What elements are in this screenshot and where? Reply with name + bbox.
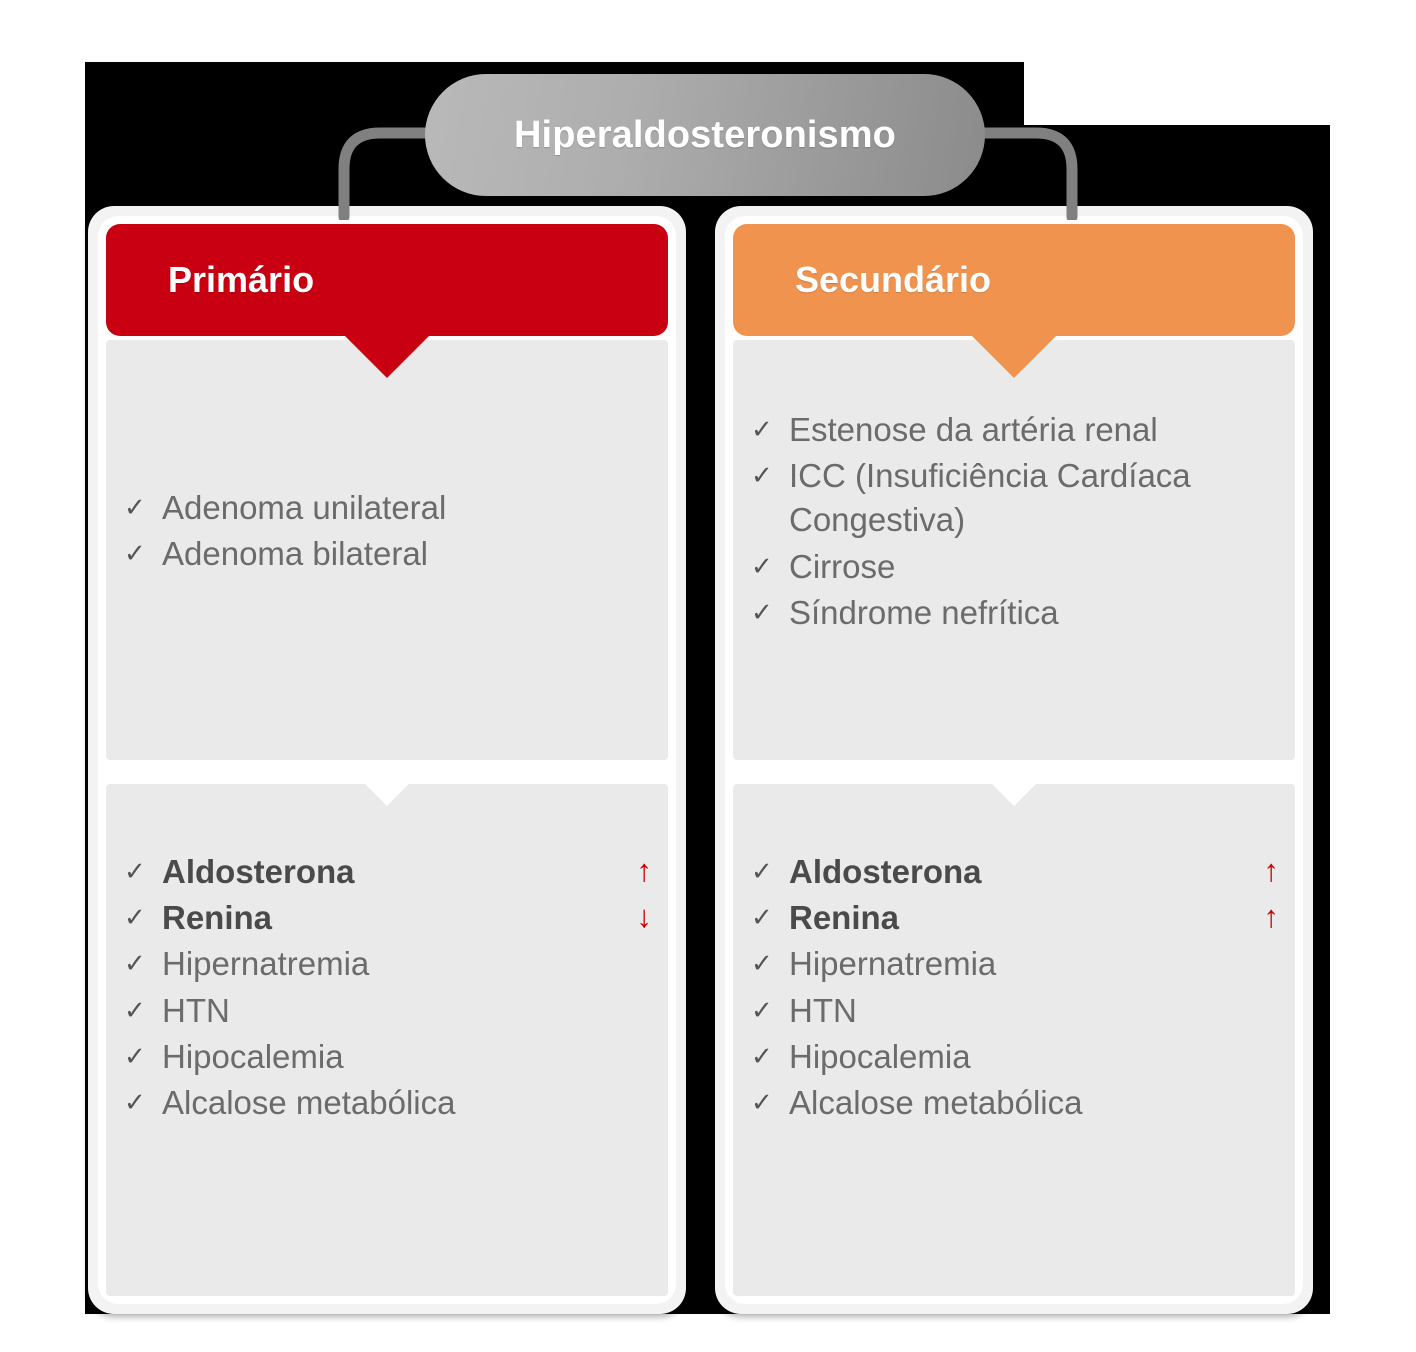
arrow-down-icon: ↓ <box>631 896 653 938</box>
check-icon: ✓ <box>124 942 158 984</box>
list-item: ✓ Alcalose metabólica <box>124 1081 652 1125</box>
check-icon: ✓ <box>751 408 785 450</box>
list-item-label: HTN <box>162 989 652 1033</box>
check-icon: ✓ <box>751 942 785 984</box>
list-item: ✓ Adenoma bilateral <box>124 532 652 576</box>
list-item: ✓ Cirrose <box>751 545 1283 589</box>
column-secundario: Secundário ✓ Estenose da artéria renal ✓… <box>715 206 1313 1314</box>
header-label-secundario: Secundário <box>733 259 991 301</box>
list-item: ✓ Estenose da artéria renal <box>751 408 1283 452</box>
header-banner-primario: Primário <box>106 224 668 336</box>
check-icon: ✓ <box>124 486 158 528</box>
check-icon: ✓ <box>751 545 785 587</box>
check-icon: ✓ <box>751 1081 785 1123</box>
list-item-label: Alcalose metabólica <box>162 1081 652 1125</box>
list-item: ✓ Alcalose metabólica <box>751 1081 1279 1125</box>
findings-list-secundario: ✓ Aldosterona ↑ ✓ Renina ↑ ✓ Hipernatrem… <box>751 850 1279 1127</box>
list-item-label: Hipernatremia <box>162 942 652 986</box>
list-item-label: Hipocalemia <box>789 1035 1279 1079</box>
list-item: ✓ Hipocalemia <box>124 1035 652 1079</box>
list-item-label: Estenose da artéria renal <box>789 408 1283 452</box>
check-icon: ✓ <box>751 989 785 1031</box>
check-icon: ✓ <box>751 454 785 496</box>
arrow-up-icon: ↑ <box>1258 850 1280 892</box>
root-node: Hiperaldosteronismo <box>425 74 985 196</box>
check-icon: ✓ <box>751 1035 785 1077</box>
list-item-label: Adenoma bilateral <box>162 532 652 576</box>
list-item: ✓ Síndrome nefrítica <box>751 591 1283 635</box>
list-item: ✓ ICC (Insuficiência Cardíaca Congestiva… <box>751 454 1283 542</box>
column-secundario-inner: Secundário ✓ Estenose da artéria renal ✓… <box>725 216 1303 1304</box>
list-item-label: Aldosterona <box>789 850 1258 894</box>
list-item: ✓ Aldosterona ↑ <box>751 850 1279 894</box>
column-primario-inner: Primário ✓ Adenoma unilateral ✓ Adenoma … <box>98 216 676 1304</box>
list-item-label: Hipocalemia <box>162 1035 652 1079</box>
list-item-label: ICC (Insuficiência Cardíaca Congestiva) <box>789 454 1283 542</box>
list-item-label: Adenoma unilateral <box>162 486 652 530</box>
findings-list-primario: ✓ Aldosterona ↑ ✓ Renina ↓ ✓ Hipernatrem… <box>124 850 652 1127</box>
list-item: ✓ Aldosterona ↑ <box>124 850 652 894</box>
list-item: ✓ Hipernatremia <box>124 942 652 986</box>
list-item-label: Alcalose metabólica <box>789 1081 1279 1125</box>
check-icon: ✓ <box>124 989 158 1031</box>
check-icon: ✓ <box>124 896 158 938</box>
list-item-label: Cirrose <box>789 545 1283 589</box>
list-item: ✓ HTN <box>751 989 1279 1033</box>
list-item-label: Aldosterona <box>162 850 631 894</box>
list-item-label: Renina <box>789 896 1258 940</box>
header-banner-secundario: Secundário <box>733 224 1295 336</box>
check-icon: ✓ <box>751 896 785 938</box>
causes-list-secundario: ✓ Estenose da artéria renal ✓ ICC (Insuf… <box>751 408 1283 637</box>
list-item: ✓ HTN <box>124 989 652 1033</box>
causes-list-primario: ✓ Adenoma unilateral ✓ Adenoma bilateral <box>124 486 652 578</box>
list-item: ✓ Hipocalemia <box>751 1035 1279 1079</box>
check-icon: ✓ <box>751 850 785 892</box>
column-primario: Primário ✓ Adenoma unilateral ✓ Adenoma … <box>88 206 686 1314</box>
list-item: ✓ Adenoma unilateral <box>124 486 652 530</box>
list-item-label: Síndrome nefrítica <box>789 591 1283 635</box>
root-node-label: Hiperaldosteronismo <box>514 114 896 157</box>
list-item: ✓ Hipernatremia <box>751 942 1279 986</box>
check-icon: ✓ <box>751 591 785 633</box>
list-item: ✓ Renina ↓ <box>124 896 652 940</box>
check-icon: ✓ <box>124 532 158 574</box>
list-item-label: HTN <box>789 989 1279 1033</box>
list-item-label: Renina <box>162 896 631 940</box>
list-item: ✓ Renina ↑ <box>751 896 1279 940</box>
check-icon: ✓ <box>124 1035 158 1077</box>
header-label-primario: Primário <box>106 259 314 301</box>
check-icon: ✓ <box>124 1081 158 1123</box>
list-item-label: Hipernatremia <box>789 942 1279 986</box>
arrow-up-icon: ↑ <box>1258 896 1280 938</box>
arrow-up-icon: ↑ <box>631 850 653 892</box>
check-icon: ✓ <box>124 850 158 892</box>
